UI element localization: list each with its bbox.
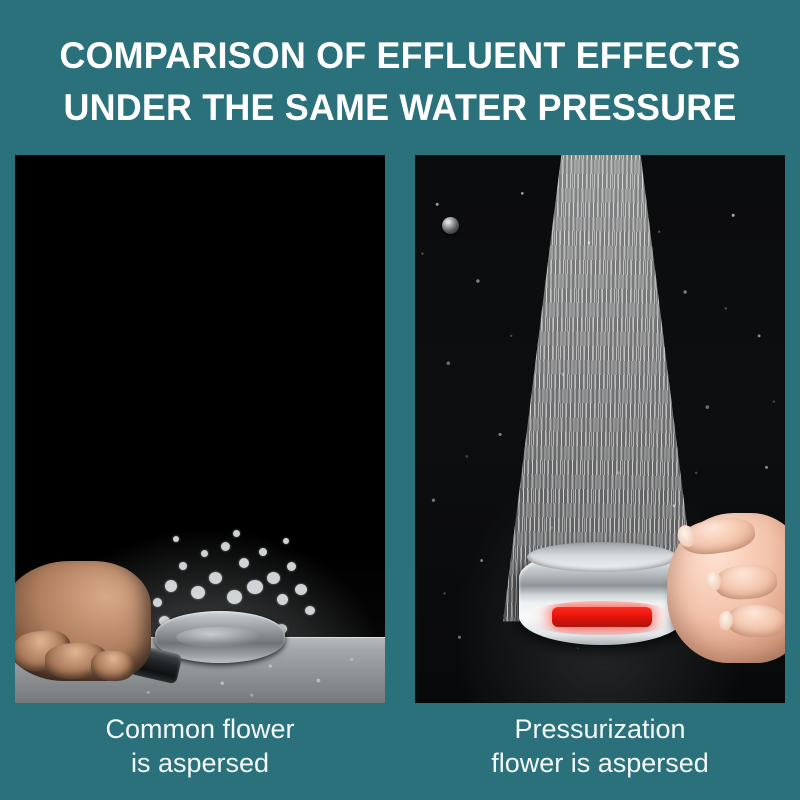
caption-pressurization: Pressurization flower is aspersed xyxy=(415,712,785,780)
product-comparison-poster: COMPARISON OF EFFLUENT EFFECTS UNDER THE… xyxy=(0,0,800,800)
shower-head-nozzle-ring xyxy=(527,542,677,572)
water-droplet xyxy=(442,217,459,234)
caption-common: Common flower is aspersed xyxy=(15,712,385,780)
caption-common-line-2: is aspersed xyxy=(15,746,385,780)
panel-common-shower-image xyxy=(15,155,385,703)
finger xyxy=(714,563,778,601)
caption-pressurization-line-2: flower is aspersed xyxy=(415,746,785,780)
comparison-panels xyxy=(15,155,785,703)
finger xyxy=(90,650,135,682)
red-led-light xyxy=(552,607,651,627)
left-hand xyxy=(15,561,151,681)
panel-captions: Common flower is aspersed Pressurization… xyxy=(15,712,785,780)
caption-common-line-1: Common flower xyxy=(15,712,385,746)
finger xyxy=(726,604,785,639)
right-hand xyxy=(667,513,785,663)
title-line-1: COMPARISON OF EFFLUENT EFFECTS xyxy=(12,30,788,82)
title-line-2: UNDER THE SAME WATER PRESSURE xyxy=(12,82,788,134)
pressurized-shower-head xyxy=(519,549,685,645)
caption-pressurization-line-1: Pressurization xyxy=(415,712,785,746)
panel-pressurized-shower-image xyxy=(415,155,785,703)
poster-title: COMPARISON OF EFFLUENT EFFECTS UNDER THE… xyxy=(0,30,800,134)
led-indicator-window xyxy=(529,601,675,635)
